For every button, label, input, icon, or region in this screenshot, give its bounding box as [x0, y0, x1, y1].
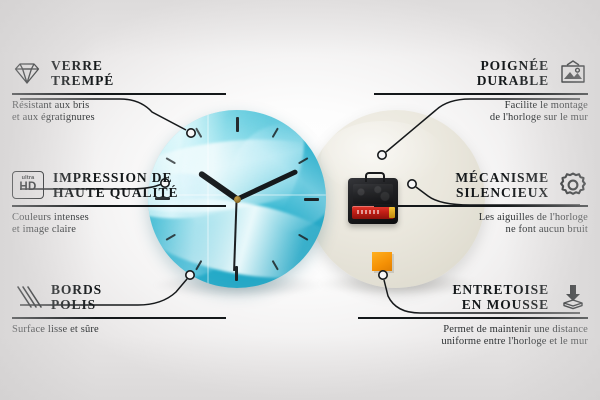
wall-hanger-frame-icon: [558, 58, 588, 88]
feature-divider: [374, 93, 588, 95]
callout-dot-poignee: [378, 151, 386, 159]
feature-subtitle-line2: ne font aucun bruit: [374, 224, 588, 237]
feature-subtitle-line1: Les aiguilles de l'horloge: [374, 212, 588, 225]
feature-poignee-durable: POIGNÉE DURABLE Facilite le montage de l…: [374, 58, 588, 125]
feature-subtitle-line1: Surface lisse et sûre: [12, 324, 226, 337]
feature-subtitle-line2: et aux égratignures: [12, 112, 226, 125]
feature-divider: [12, 205, 226, 207]
feature-title: VERRE TREMPÉ: [51, 58, 114, 88]
feature-divider: [358, 317, 588, 319]
feature-verre-trempe: VERRE TREMPÉ Résistant aux bris et aux é…: [12, 58, 226, 125]
feature-divider: [12, 93, 226, 95]
feature-title: ENTRETOISE EN MOUSSE: [452, 282, 549, 312]
feature-subtitle-line1: Permet de maintenir une distance: [358, 324, 588, 337]
feature-title: IMPRESSION DE HAUTE QUALITÉ: [53, 170, 178, 200]
feature-subtitle-line2: et image claire: [12, 224, 226, 237]
feature-header: VERRE TREMPÉ: [12, 58, 226, 88]
feature-bords-polis: BORDS POLIS Surface lisse et sûre: [12, 282, 226, 336]
foam-spacer-icon: [558, 282, 588, 312]
polished-edges-icon: [12, 282, 42, 312]
feature-title: BORDS POLIS: [51, 282, 102, 312]
callout-dot-entretoise: [379, 271, 387, 279]
feature-subtitle-line2: uniforme entre l'horloge et le mur: [358, 336, 588, 349]
feature-header: ENTRETOISE EN MOUSSE: [358, 282, 588, 312]
feature-mecanisme-silencieux: MÉCANISME SILENCIEUX Les aiguilles de l'…: [374, 170, 588, 237]
product-infographic: VERRE TREMPÉ Résistant aux bris et aux é…: [0, 0, 600, 400]
feature-header: ultra HD IMPRESSION DE HAUTE QUALITÉ: [12, 170, 226, 200]
callout-dot-bords-polis: [186, 271, 194, 279]
feature-header: BORDS POLIS: [12, 282, 226, 312]
feature-divider: [374, 205, 588, 207]
feature-subtitle-line1: Couleurs intenses: [12, 212, 226, 225]
feature-divider: [12, 317, 226, 319]
feature-title: MÉCANISME SILENCIEUX: [455, 170, 549, 200]
ultra-hd-icon: ultra HD: [12, 171, 44, 199]
feature-entretoise-en-mousse: ENTRETOISE EN MOUSSE Permet de maintenir…: [358, 282, 588, 349]
feature-impression-haute-qualite: ultra HD IMPRESSION DE HAUTE QUALITÉ Cou…: [12, 170, 226, 237]
feature-subtitle-line1: Résistant aux bris: [12, 100, 226, 113]
callout-dot-verre-trempe: [187, 129, 195, 137]
feature-subtitle-line2: de l'horloge sur le mur: [374, 112, 588, 125]
ultra-hd-icon-main-label: HD: [19, 182, 36, 194]
gear-icon: [558, 170, 588, 200]
feature-title: POIGNÉE DURABLE: [477, 58, 549, 88]
feature-subtitle-line1: Facilite le montage: [374, 100, 588, 113]
feature-header: POIGNÉE DURABLE: [374, 58, 588, 88]
feature-header: MÉCANISME SILENCIEUX: [374, 170, 588, 200]
diamond-icon: [12, 58, 42, 88]
